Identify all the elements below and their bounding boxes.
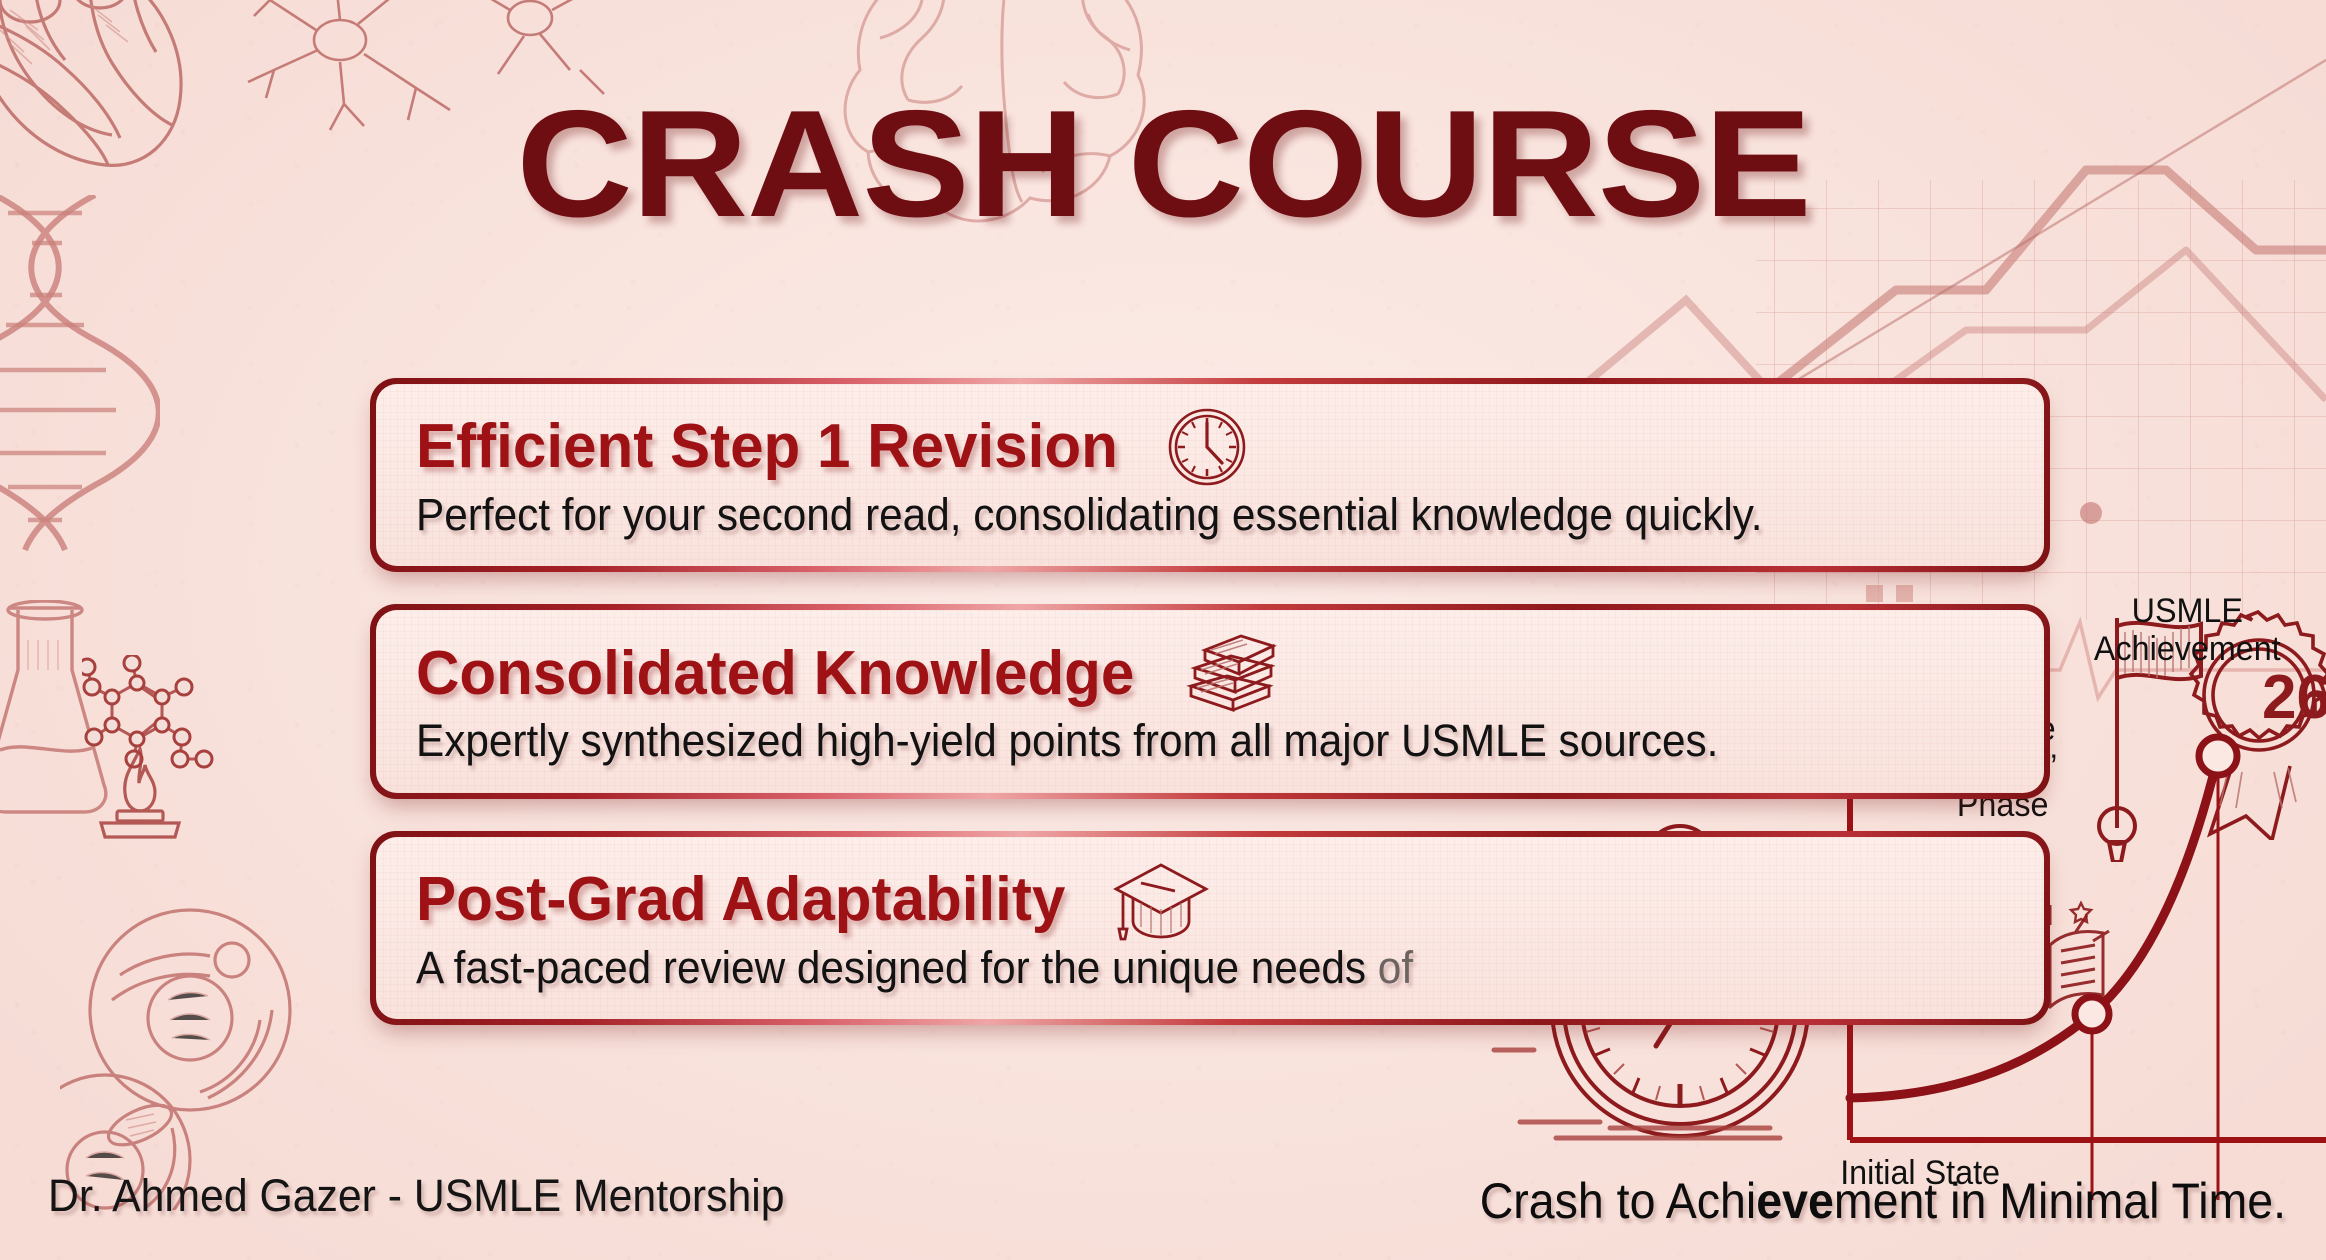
tagline-pre: Crash to Achi [1480, 1173, 1757, 1229]
clock-icon [1166, 406, 1248, 488]
title-container: CRASH COURSE [0, 88, 2326, 240]
card-description-faded: of [1378, 942, 1413, 993]
achievement-line-2: Achievement [2094, 630, 2281, 668]
card-description-text: A fast-paced review designed for the uni… [416, 942, 1378, 993]
feature-cards: Efficient Step 1 Revision [370, 378, 2050, 1057]
card-title: Efficient Step 1 Revision [416, 414, 1118, 479]
card-title: Consolidated Knowledge [416, 641, 1134, 706]
card-description-text: Perfect for your second read, consolidat… [416, 489, 1763, 540]
feature-card-consolidated-knowledge[interactable]: Consolidated Knowledge [370, 604, 2050, 798]
bunsen-burner-icon [95, 745, 185, 840]
card-description-text: Expertly synthesized high-yield points f… [416, 715, 1718, 766]
feature-card-post-grad-adaptability[interactable]: Post-Grad Adaptability [370, 831, 2050, 1025]
card-description: A fast-paced review designed for the uni… [416, 943, 1909, 993]
byline: Dr. Ahmed Gazer - USMLE Mentorship [48, 1170, 785, 1222]
tagline: Crash to Achievement in Minimal Time. [1480, 1172, 2286, 1230]
card-description: Perfect for your second read, consolidat… [416, 490, 1909, 540]
graduation-cap-icon [1111, 859, 1211, 941]
card-description: Expertly synthesized high-yield points f… [416, 716, 1909, 766]
dna-helix-icon [0, 195, 160, 595]
crash-phase-marker [2075, 997, 2109, 1031]
achievement-line-1: USMLE [2094, 592, 2281, 630]
page-title: CRASH COURSE [516, 88, 1810, 240]
tagline-post: ment in Minimal Time. [1834, 1173, 2286, 1229]
achievement-marker [2199, 737, 2237, 775]
card-title: Post-Grad Adaptability [416, 867, 1065, 932]
chart-label-achievement: USMLE Achievement [2094, 592, 2281, 668]
cell-icon [60, 870, 320, 1210]
tagline-bold: eve [1756, 1173, 1834, 1229]
stacked-books-icon [1183, 632, 1278, 714]
feature-card-efficient-revision[interactable]: Efficient Step 1 Revision [370, 378, 2050, 572]
